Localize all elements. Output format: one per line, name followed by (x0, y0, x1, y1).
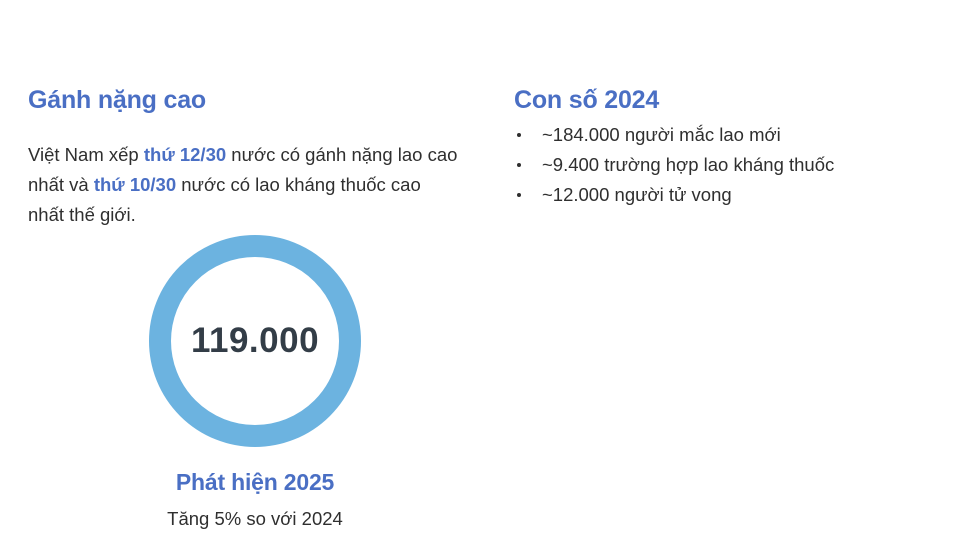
left-caption-subtitle: Tăng 5% so với 2024 (100, 508, 410, 530)
list-item-label: ~9.400 trường hợp lao kháng thuốc (542, 154, 834, 175)
left-section-heading: Gánh nặng cao (28, 86, 206, 115)
bullet-dot-icon (517, 133, 521, 137)
paragraph-text-part-1: Việt Nam xếp (28, 144, 144, 165)
left-donut-chart: 119.000 (100, 235, 410, 447)
left-donut-svg (149, 235, 361, 447)
list-item-label: ~184.000 người mắc lao mới (542, 124, 781, 145)
left-donut-caption: Phát hiện 2025 Tăng 5% so với 2024 (100, 469, 410, 530)
list-item: ~184.000 người mắc lao mới (514, 120, 944, 150)
left-lead-paragraph: Việt Nam xếp thứ 12/30 nước có gánh nặng… (28, 140, 460, 230)
left-donut-full-ring (160, 246, 350, 436)
left-column: Gánh nặng cao Việt Nam xếp thứ 12/30 nướ… (0, 0, 490, 549)
right-section-heading: Con số 2024 (514, 86, 659, 115)
left-caption-title: Phát hiện 2025 (100, 469, 410, 496)
left-donut-block: 119.000 Phát hiện 2025 Tăng 5% so với 20… (100, 235, 410, 530)
paragraph-highlight-rank-burden: thứ 12/30 (144, 144, 226, 165)
list-item: ~12.000 người tử vong (514, 180, 944, 210)
list-item-label: ~12.000 người tử vong (542, 184, 732, 205)
bullet-dot-icon (517, 193, 521, 197)
infographic-canvas: Gánh nặng cao Việt Nam xếp thứ 12/30 nướ… (0, 0, 966, 549)
list-item: ~9.400 trường hợp lao kháng thuốc (514, 150, 944, 180)
paragraph-highlight-rank-drug-resistant: thứ 10/30 (94, 174, 176, 195)
right-stat-list: ~184.000 người mắc lao mới ~9.400 trường… (514, 120, 944, 210)
right-column: Con số 2024 ~184.000 người mắc lao mới ~… (490, 0, 966, 549)
bullet-dot-icon (517, 163, 521, 167)
